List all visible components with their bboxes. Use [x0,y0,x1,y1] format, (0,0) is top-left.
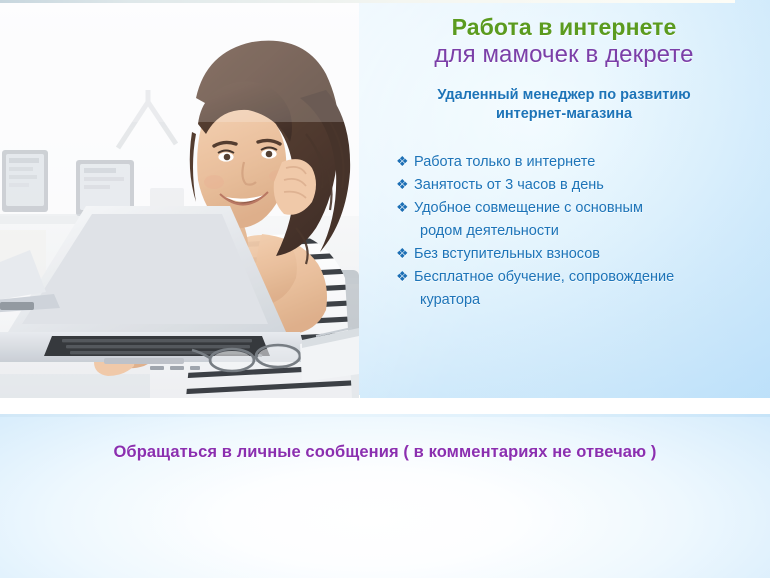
subtitle-line-1: Удаленный менеджер по развитию [388,86,740,106]
contact-call-to-action: Обращаться в личные сообщения ( в коммен… [0,443,770,462]
title-line-2: для мамочек в декрете [370,41,758,70]
list-item-continuation: куратора [396,289,760,311]
list-item: ❖ Бесплатное обучение, сопровождение [396,266,760,288]
list-item-label: Удобное совмещение с основным [414,200,643,216]
diamond-bullet-icon: ❖ [396,243,409,264]
list-item-label: Работа только в интернете [414,154,595,170]
list-item: ❖ Без вступительных взносов [396,243,760,265]
list-item: ❖ Удобное совмещение с основным [396,197,760,219]
list-item: ❖ Работа только в интернете [396,151,760,173]
diamond-bullet-icon: ❖ [396,197,409,218]
list-item-continuation: родом деятельности [396,220,760,242]
bottom-background-panel [0,414,770,578]
headline-text-column: Работа в интернете для мамочек в декрете… [358,0,770,398]
list-item: ❖ Занятость от 3 часов в день [396,174,760,196]
list-item-label: Занятость от 3 часов в день [414,177,604,193]
diamond-bullet-icon: ❖ [396,151,409,172]
slide-canvas: Работа в интернете для мамочек в декрете… [0,0,770,578]
list-item-label: Без вступительных взносов [414,246,600,262]
title-line-1: Работа в интернете [370,14,758,41]
subtitle: Удаленный менеджер по развитию интернет-… [388,86,740,125]
benefits-list: ❖ Работа только в интернете ❖ Занятость … [358,151,770,311]
diamond-bullet-icon: ❖ [396,174,409,195]
subtitle-line-2: интернет-магазина [388,105,740,125]
list-item-label: куратора [420,292,480,308]
list-item-label: родом деятельности [420,223,559,239]
page-title: Работа в интернете для мамочек в декрете [358,0,770,70]
diamond-bullet-icon: ❖ [396,266,409,287]
woman-at-laptop-photo [0,2,359,398]
list-item-label: Бесплатное обучение, сопровождение [414,269,674,285]
